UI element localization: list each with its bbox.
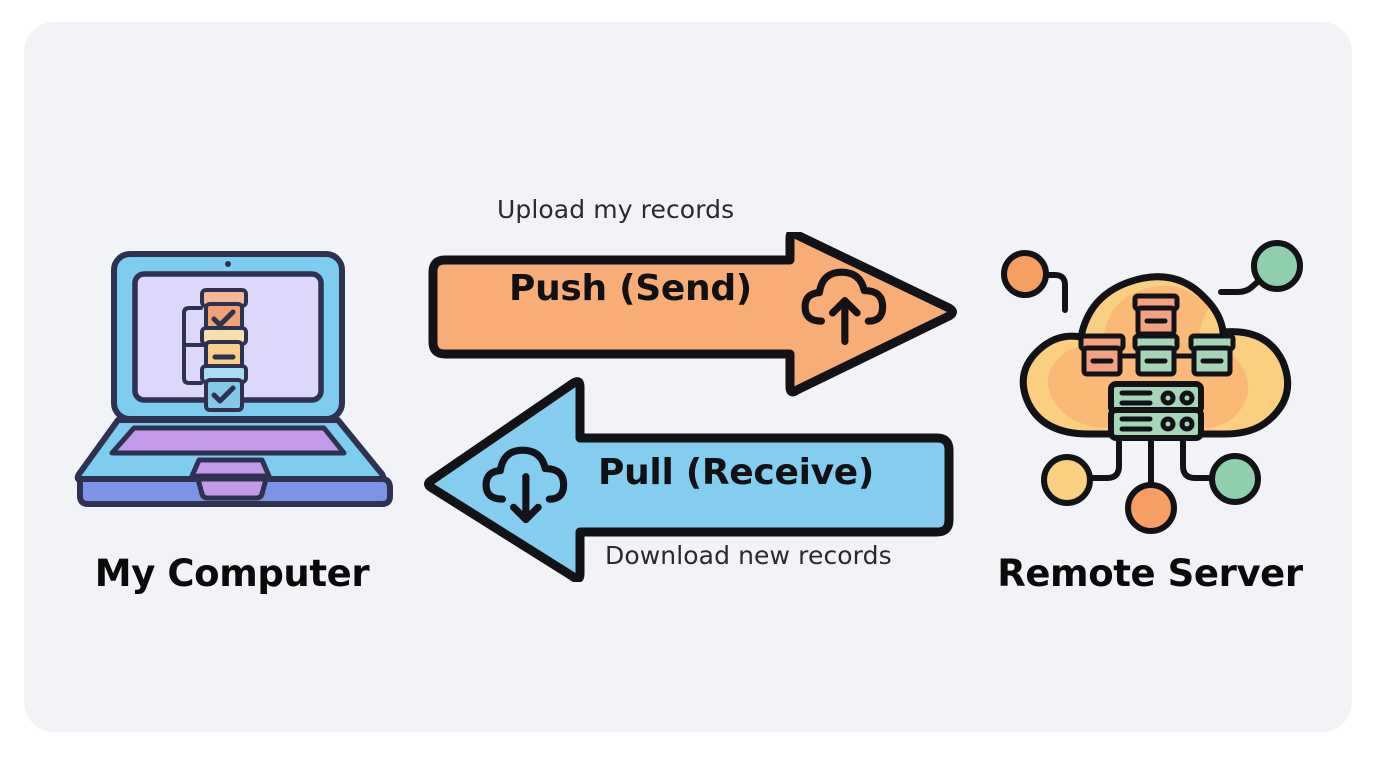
node-dot-bottom-left [1044,457,1090,503]
cloud-box-top [1135,296,1177,334]
remote-server-label: Remote Server [978,552,1322,595]
node-dot-bottom-center [1128,485,1174,531]
cloud-box-left [1081,336,1123,374]
pull-arrow-caption: Download new records [605,541,892,570]
screen-item-3 [202,366,246,410]
node-dot-top-right [1254,243,1300,289]
push-arrow-label: Push (Send) [509,268,752,309]
my-computer-label: My Computer [60,552,404,595]
push-arrow-caption: Upload my records [497,195,734,224]
cloud-box-right [1191,336,1233,374]
node-dot-top-left [1004,253,1046,295]
laptop-icon [78,254,390,504]
node-dot-bottom-right [1212,456,1258,502]
remote-server-illustration [985,238,1315,534]
cloud-box-center [1135,336,1177,374]
cloud-server-icon [1004,243,1300,531]
pull-arrow-label: Pull (Receive) [598,452,874,493]
my-computer-illustration [72,248,398,510]
server-rack [1111,384,1201,438]
diagram-canvas: My Computer [0,0,1376,768]
